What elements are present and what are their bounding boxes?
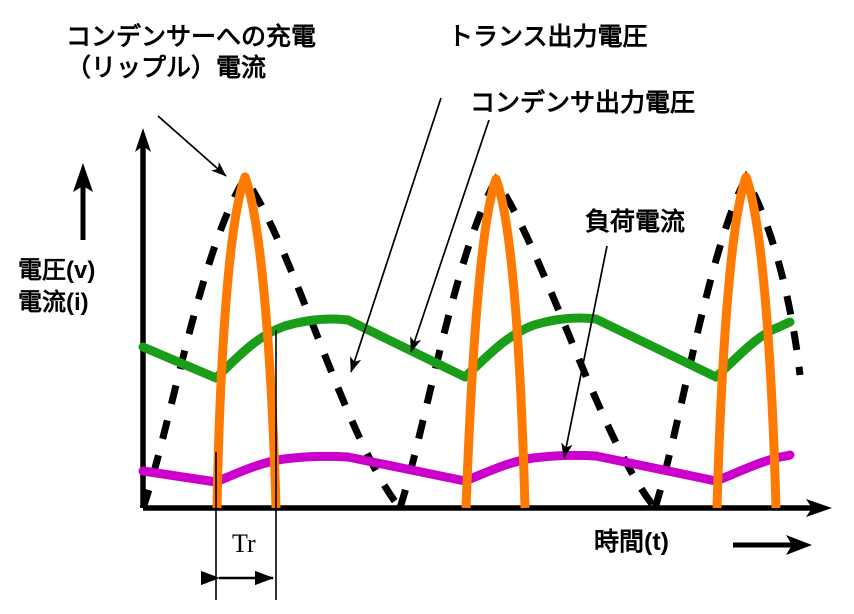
diagram-canvas: コンデンサーへの充電 （リップル）電流 トランス出力電圧 コンデンサ出力電圧 負… bbox=[0, 0, 854, 614]
label-y-axis-current: 電流(i) bbox=[18, 288, 89, 317]
label-ripple-charging-current: コンデンサーへの充電 （リップル）電流 bbox=[66, 22, 316, 83]
label-x-axis-time: 時間(t) bbox=[594, 527, 669, 558]
magenta-segment-5 bbox=[596, 456, 716, 481]
label-capacitor-output-voltage: コンデンサ出力電圧 bbox=[470, 88, 695, 119]
magenta-segment-3 bbox=[348, 457, 465, 481]
green-segment-4 bbox=[465, 318, 596, 377]
x-axis-legend-arrow bbox=[733, 535, 812, 555]
y-axis-legend-arrow bbox=[73, 163, 93, 240]
magenta-segment-1 bbox=[143, 471, 216, 482]
magenta-segment-4 bbox=[465, 455, 596, 481]
leader-line-transformer-voltage bbox=[351, 98, 441, 372]
magenta-segment-2 bbox=[216, 456, 348, 482]
label-y-axis-voltage: 電圧(v) bbox=[18, 256, 95, 285]
label-transformer-output-voltage: トランス出力電圧 bbox=[448, 22, 648, 53]
green-segment-1 bbox=[143, 347, 216, 378]
label-tr-period: Tr bbox=[232, 528, 256, 560]
label-load-current: 負荷電流 bbox=[585, 207, 685, 238]
waveform-diagram bbox=[0, 0, 854, 614]
leader-line-ripple-current bbox=[158, 116, 226, 176]
leader-line-load-current bbox=[564, 246, 607, 458]
capacitor-voltage-green-curve bbox=[143, 318, 790, 378]
